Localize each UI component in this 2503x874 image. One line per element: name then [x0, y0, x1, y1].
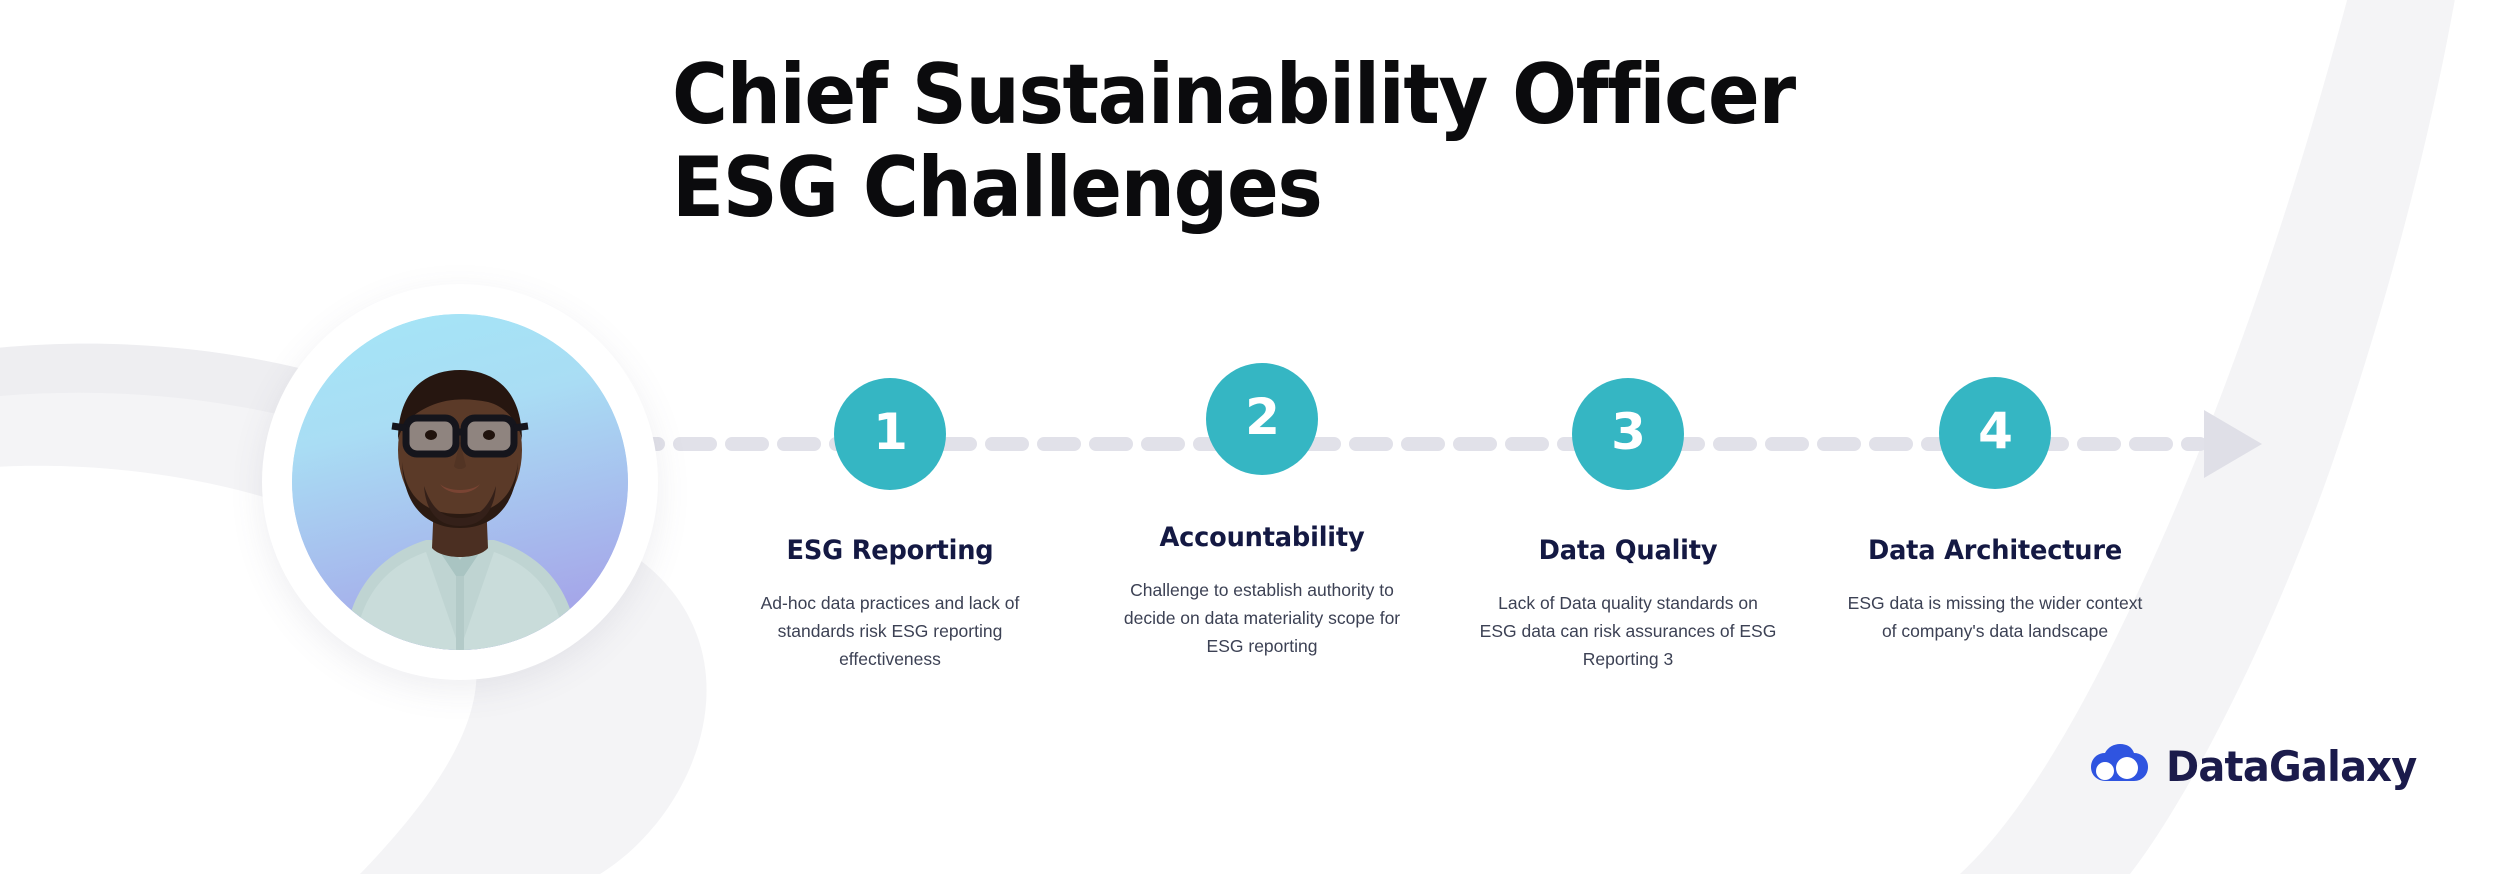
cloud-icon [2090, 744, 2152, 790]
step-circle-3[interactable]: 3 [1572, 378, 1684, 490]
step-description-3: Lack of Data quality standards on ESG da… [1478, 589, 1778, 673]
step-number-1: 1 [873, 407, 907, 457]
step-block-2: Accountability Challenge to establish au… [1112, 522, 1412, 660]
step-description-4: ESG data is missing the wider context of… [1845, 589, 2145, 645]
step-block-3: Data Quality Lack of Data quality standa… [1478, 535, 1778, 673]
portrait-photo [292, 314, 628, 650]
step-heading-4: Data Architecture [1853, 535, 2138, 567]
step-block-4: Data Architecture ESG data is missing th… [1845, 535, 2145, 645]
step-description-1: Ad-hoc data practices and lack of standa… [740, 589, 1040, 673]
page-title: Chief Sustainability Officer ESG Challen… [672, 48, 1795, 234]
step-circle-4[interactable]: 4 [1939, 377, 2051, 489]
step-circle-2[interactable]: 2 [1206, 363, 1318, 475]
step-heading-2: Accountability [1120, 522, 1405, 554]
logo-text: DataGalaxy [2166, 742, 2416, 791]
portrait-avatar [262, 284, 658, 680]
step-circle-1[interactable]: 1 [834, 378, 946, 490]
step-number-3: 3 [1611, 407, 1645, 457]
datagalaxy-logo[interactable]: DataGalaxy [2090, 742, 2430, 791]
step-number-2: 2 [1245, 392, 1279, 442]
portrait-illustration [292, 314, 628, 650]
step-heading-3: Data Quality [1486, 535, 1771, 567]
step-number-4: 4 [1978, 406, 2012, 456]
step-block-1: ESG Reporting Ad-hoc data practices and … [740, 535, 1040, 673]
timeline-arrow-icon [2204, 410, 2262, 478]
step-heading-1: ESG Reporting [748, 535, 1033, 567]
step-description-2: Challenge to establish authority to deci… [1112, 576, 1412, 660]
